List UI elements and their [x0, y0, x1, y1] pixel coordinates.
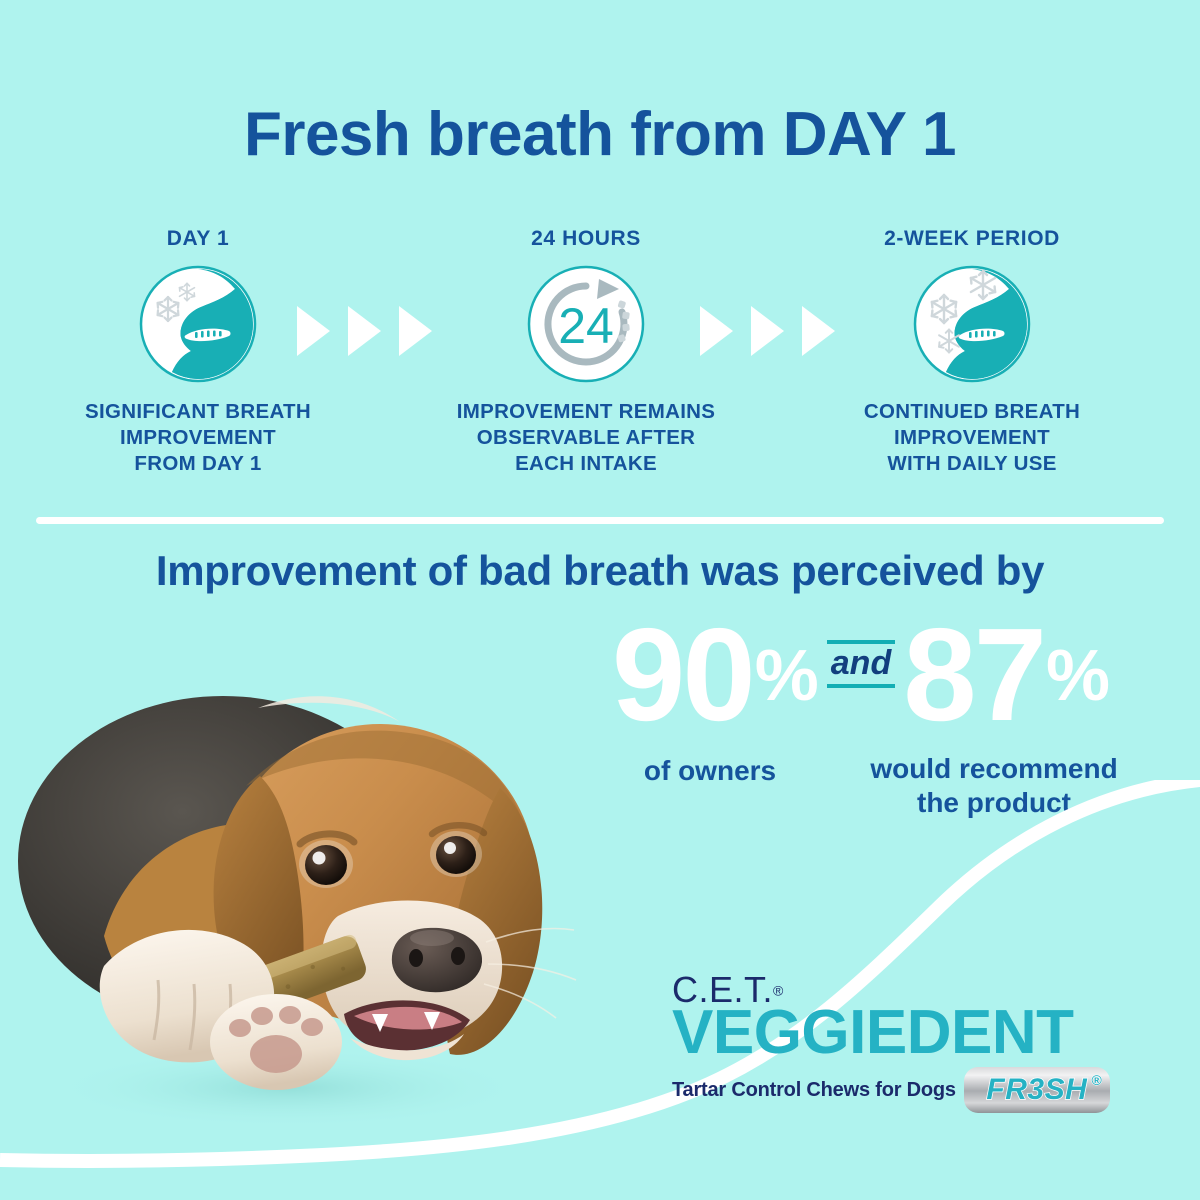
stat-value-right: 87 — [903, 614, 1044, 735]
stat-caption-left: of owners — [576, 752, 844, 819]
stats-block: 90 % and 87 % of owners would recommend … — [560, 614, 1160, 824]
dog-muzzle-three-snowflakes-icon — [812, 265, 1132, 383]
chevron-right-icon — [297, 306, 330, 356]
logo-bottom-row: Tartar Control Chews for Dogs FR3SH ® — [672, 1067, 1172, 1113]
fr3sh-badge-text: FR3SH — [986, 1075, 1087, 1105]
fr3sh-registered-icon: ® — [1092, 1072, 1102, 1088]
clock-icon-number: 24 — [558, 298, 614, 354]
chevron-right-icon — [751, 306, 784, 356]
section-title-perception: Improvement of bad breath was perceived … — [0, 550, 1200, 592]
step-caption-2-week-period: CONTINUED BREATH IMPROVEMENT WITH DAILY … — [812, 399, 1132, 478]
conjunction-and-label: and — [831, 646, 891, 682]
section-divider — [36, 517, 1164, 524]
step-caption-24-hours: IMPROVEMENT REMAINS OBSERVABLE AFTER EAC… — [426, 399, 746, 478]
brand-logo: C.E.T.® VEGGIEDENT Tartar Control Chews … — [672, 972, 1172, 1113]
stats-numbers-row: 90 % and 87 % — [560, 614, 1160, 742]
logo-veggiedent-text: VEGGIEDENT — [672, 1004, 1172, 1063]
stat-caption-right: would recommend the product — [844, 752, 1144, 819]
step-caption-day-1: SIGNIFICANT BREATH IMPROVEMENT FROM DAY … — [38, 399, 358, 478]
stats-captions-row: of owners would recommend the product — [560, 752, 1160, 819]
step-label-2-week-period: 2-WEEK PERIOD — [812, 228, 1132, 249]
logo-cet-registered-icon: ® — [773, 983, 783, 999]
step-24-hours: 24 HOURS 24 IMPROVEMENT REMAINS OBSERVAB… — [426, 228, 746, 478]
clock-24-hours-icon: 24 — [426, 265, 746, 383]
chevron-right-icon — [348, 306, 381, 356]
beagle-puppy-photo — [8, 636, 608, 1136]
stat-percent-left: % — [755, 640, 817, 712]
stat-percent-right: % — [1046, 640, 1108, 712]
page-title: Fresh breath from DAY 1 — [0, 104, 1200, 166]
step-label-24-hours: 24 HOURS — [426, 228, 746, 249]
stat-value-left: 90 — [612, 614, 753, 735]
chevron-group-1 — [297, 306, 432, 356]
fr3sh-badge: FR3SH ® — [964, 1067, 1110, 1113]
infographic-canvas: Fresh breath from DAY 1 DAY 1 — [0, 0, 1200, 1200]
step-label-day-1: DAY 1 — [38, 228, 358, 249]
step-2-week-period: 2-WEEK PERIOD — [812, 228, 1132, 478]
logo-cet-text: C.E.T. — [672, 972, 773, 1008]
conjunction-and: and — [827, 640, 895, 688]
logo-tagline: Tartar Control Chews for Dogs — [672, 1080, 956, 1100]
chevron-right-icon — [700, 306, 733, 356]
